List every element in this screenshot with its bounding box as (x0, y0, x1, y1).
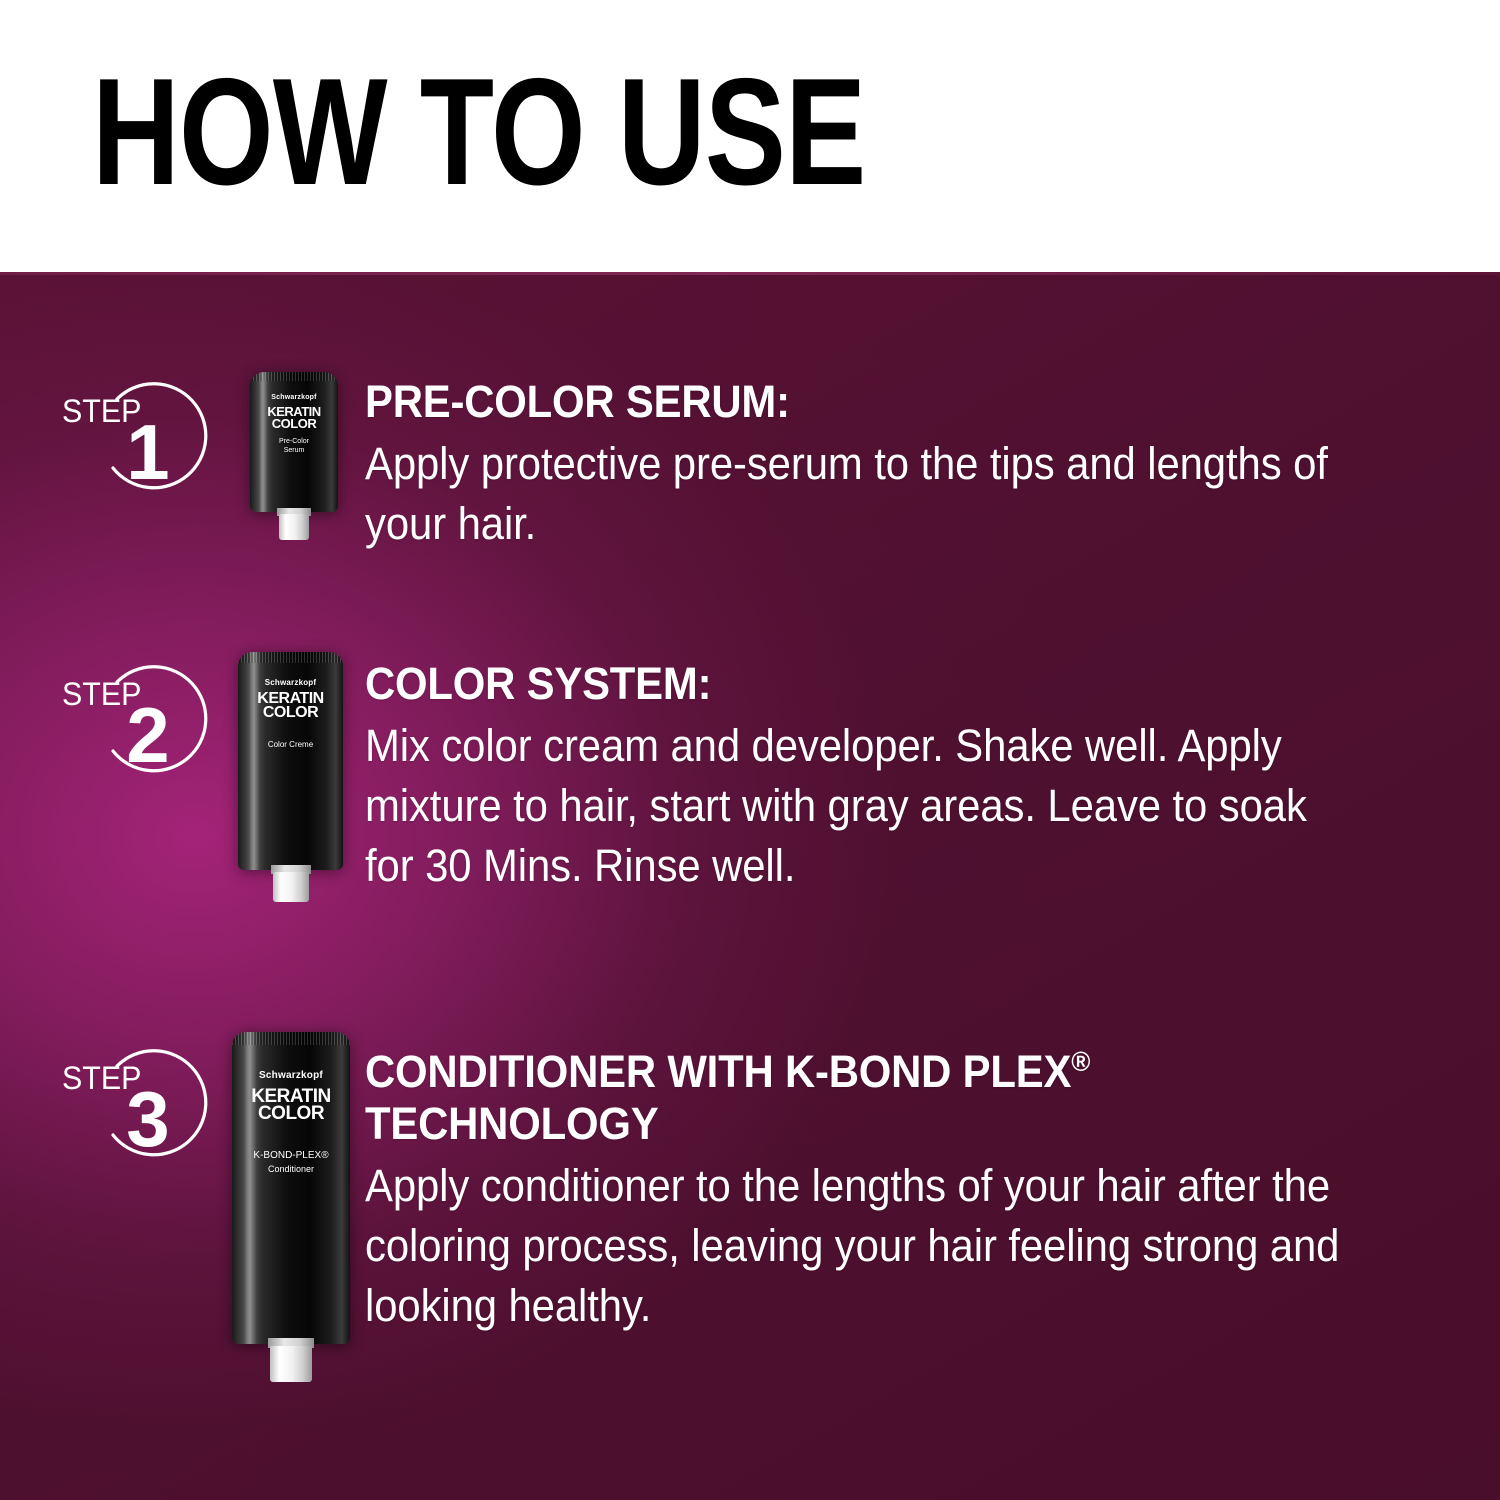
tube-brand: Schwarzkopf (250, 394, 338, 401)
tube-line-2: COLOR (232, 1103, 350, 1125)
step-text-block: COLOR SYSTEM: Mix color cream and develo… (365, 658, 1435, 896)
step-text-block: CONDITIONER WITH K-BOND PLEX® TECHNOLOGY… (365, 1036, 1435, 1336)
step-text-block: PRE-COLOR SERUM: Apply protective pre-se… (365, 376, 1435, 554)
step-heading: PRE-COLOR SERUM: (365, 376, 1360, 428)
step-row: STEP 3 Schwarzkopf KERATIN COLOR K-BOND-… (0, 1032, 1500, 1452)
step-badge: STEP 3 (60, 1044, 220, 1174)
step-body: Mix color cream and developer. Shake wel… (365, 716, 1360, 896)
step-heading-line-2: TECHNOLOGY (365, 1098, 658, 1149)
step-badge-number: 1 (116, 413, 180, 491)
tube-brand: Schwarzkopf (238, 678, 343, 687)
step-row: STEP 2 Schwarzkopf KERATIN COLOR Color C… (0, 652, 1500, 982)
steps-panel: STEP 1 Schwarzkopf KERATIN COLOR Pre-Col… (0, 272, 1500, 1500)
tube-line-2: COLOR (250, 416, 338, 431)
step-badge-number: 2 (116, 696, 180, 774)
step-heading-line-1: CONDITIONER WITH K-BOND PLEX (365, 1046, 1071, 1097)
tube-brand: Schwarzkopf (232, 1070, 350, 1081)
product-tube-conditioner: Schwarzkopf KERATIN COLOR K-BOND-PLEX® C… (232, 1032, 350, 1382)
step-badge: STEP 1 (60, 377, 220, 507)
step-row: STEP 1 Schwarzkopf KERATIN COLOR Pre-Col… (0, 372, 1500, 632)
tube-variant: Pre-Color (250, 438, 338, 445)
product-tube-color-creme: Schwarzkopf KERATIN COLOR Color Creme (238, 652, 343, 902)
tube-variant-sub: Conditioner (232, 1164, 350, 1174)
step-body: Apply protective pre-serum to the tips a… (365, 434, 1360, 554)
tube-variant: Color Creme (238, 740, 343, 749)
tube-variant: K-BOND-PLEX® (232, 1150, 350, 1161)
registered-mark-icon: ® (1071, 1046, 1090, 1077)
step-badge: STEP 2 (60, 660, 220, 790)
product-tube-pre-color-serum: Schwarzkopf KERATIN COLOR Pre-Color Seru… (250, 372, 338, 540)
how-to-use-infographic: HOW TO USE STEP 1 Schwarzkopf K (0, 0, 1500, 1500)
page-title: HOW TO USE (92, 56, 865, 208)
tube-variant-sub: Serum (250, 447, 338, 454)
panel-top-divider (0, 272, 1500, 275)
step-heading: CONDITIONER WITH K-BOND PLEX® TECHNOLOGY (365, 1036, 1360, 1150)
step-badge-number: 3 (116, 1080, 180, 1158)
header-band: HOW TO USE (0, 0, 1500, 272)
step-heading: COLOR SYSTEM: (365, 658, 1360, 710)
step-body: Apply conditioner to the lengths of your… (365, 1156, 1360, 1336)
tube-line-2: COLOR (238, 704, 343, 722)
